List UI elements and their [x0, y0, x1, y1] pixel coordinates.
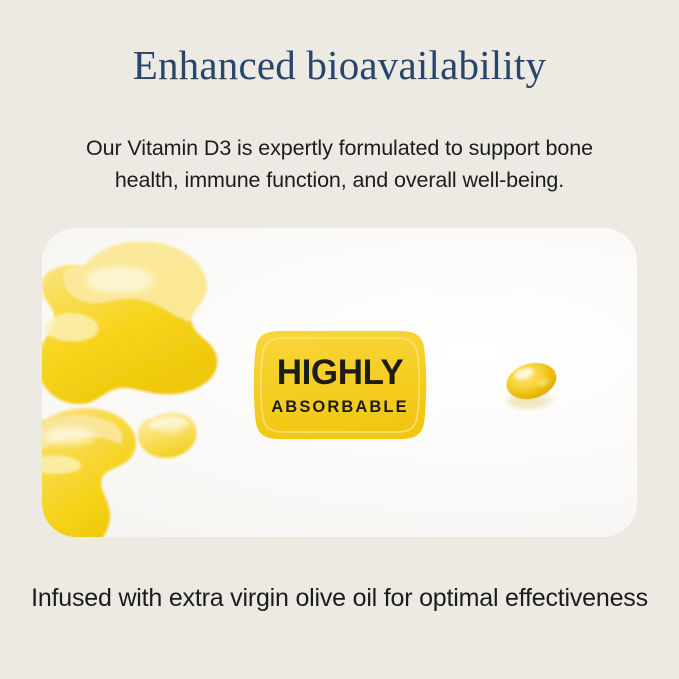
product-image-card: HIGHLY ABSORBABLE — [42, 228, 637, 537]
product-feature-panel: Enhanced bioavailability Our Vitamin D3 … — [0, 0, 679, 679]
subtitle-text: Our Vitamin D3 is expertly formulated to… — [80, 132, 600, 197]
footer-caption: Infused with extra virgin olive oil for … — [0, 581, 679, 617]
page-title: Enhanced bioavailability — [133, 44, 547, 87]
vitamin-d3-softgel-capsule — [495, 350, 567, 412]
highly-absorbable-badge: HIGHLY ABSORBABLE — [240, 327, 440, 443]
